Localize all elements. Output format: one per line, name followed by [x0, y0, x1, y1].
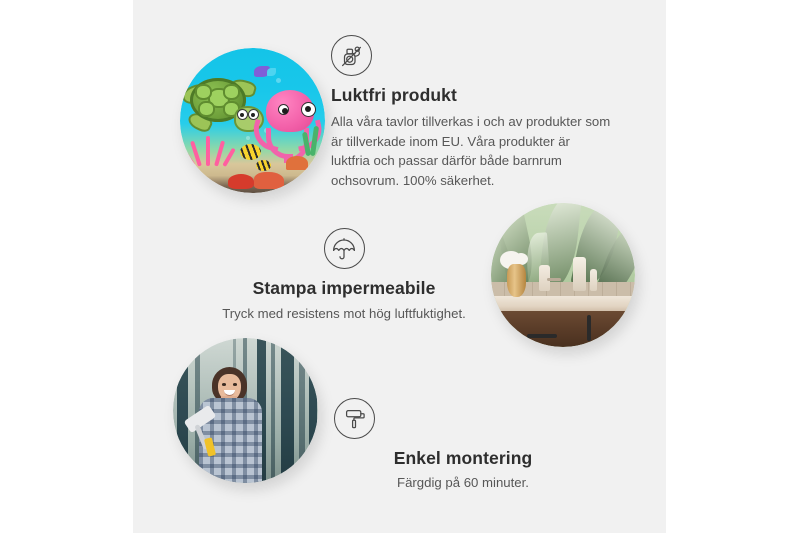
product-feature-infographic: Luktfri produkt Alla våra tavlor tillver…	[0, 0, 800, 533]
paint-roller-icon	[334, 398, 375, 439]
underwater-kids-mural-photo	[180, 48, 325, 193]
umbrella-icon	[324, 228, 365, 269]
bathroom-tropical-wallpaper-photo	[491, 203, 635, 347]
feature-title: Luktfri produkt	[331, 85, 631, 106]
feature-title: Stampa impermeabile	[193, 278, 495, 299]
feature-description: Alla våra tavlor tillverkas i och av pro…	[331, 112, 611, 190]
feature-description: Färgdig på 60 minuter.	[328, 473, 598, 493]
infographic-canvas: Luktfri produkt Alla våra tavlor tillver…	[133, 0, 666, 533]
feature-title: Enkel montering	[328, 448, 598, 469]
installer-forest-wallpaper-photo	[173, 338, 318, 483]
feature-description: Tryck med resistens mot hög luftfuktighe…	[193, 304, 495, 324]
feature-odourless: Luktfri produkt Alla våra tavlor tillver…	[331, 35, 631, 190]
feature-waterproof: Stampa impermeabile Tryck med resistens …	[193, 228, 495, 324]
feature-easy-installation: Enkel montering Färgdig på 60 minuter.	[328, 398, 598, 493]
no-fragrance-icon	[331, 35, 372, 76]
